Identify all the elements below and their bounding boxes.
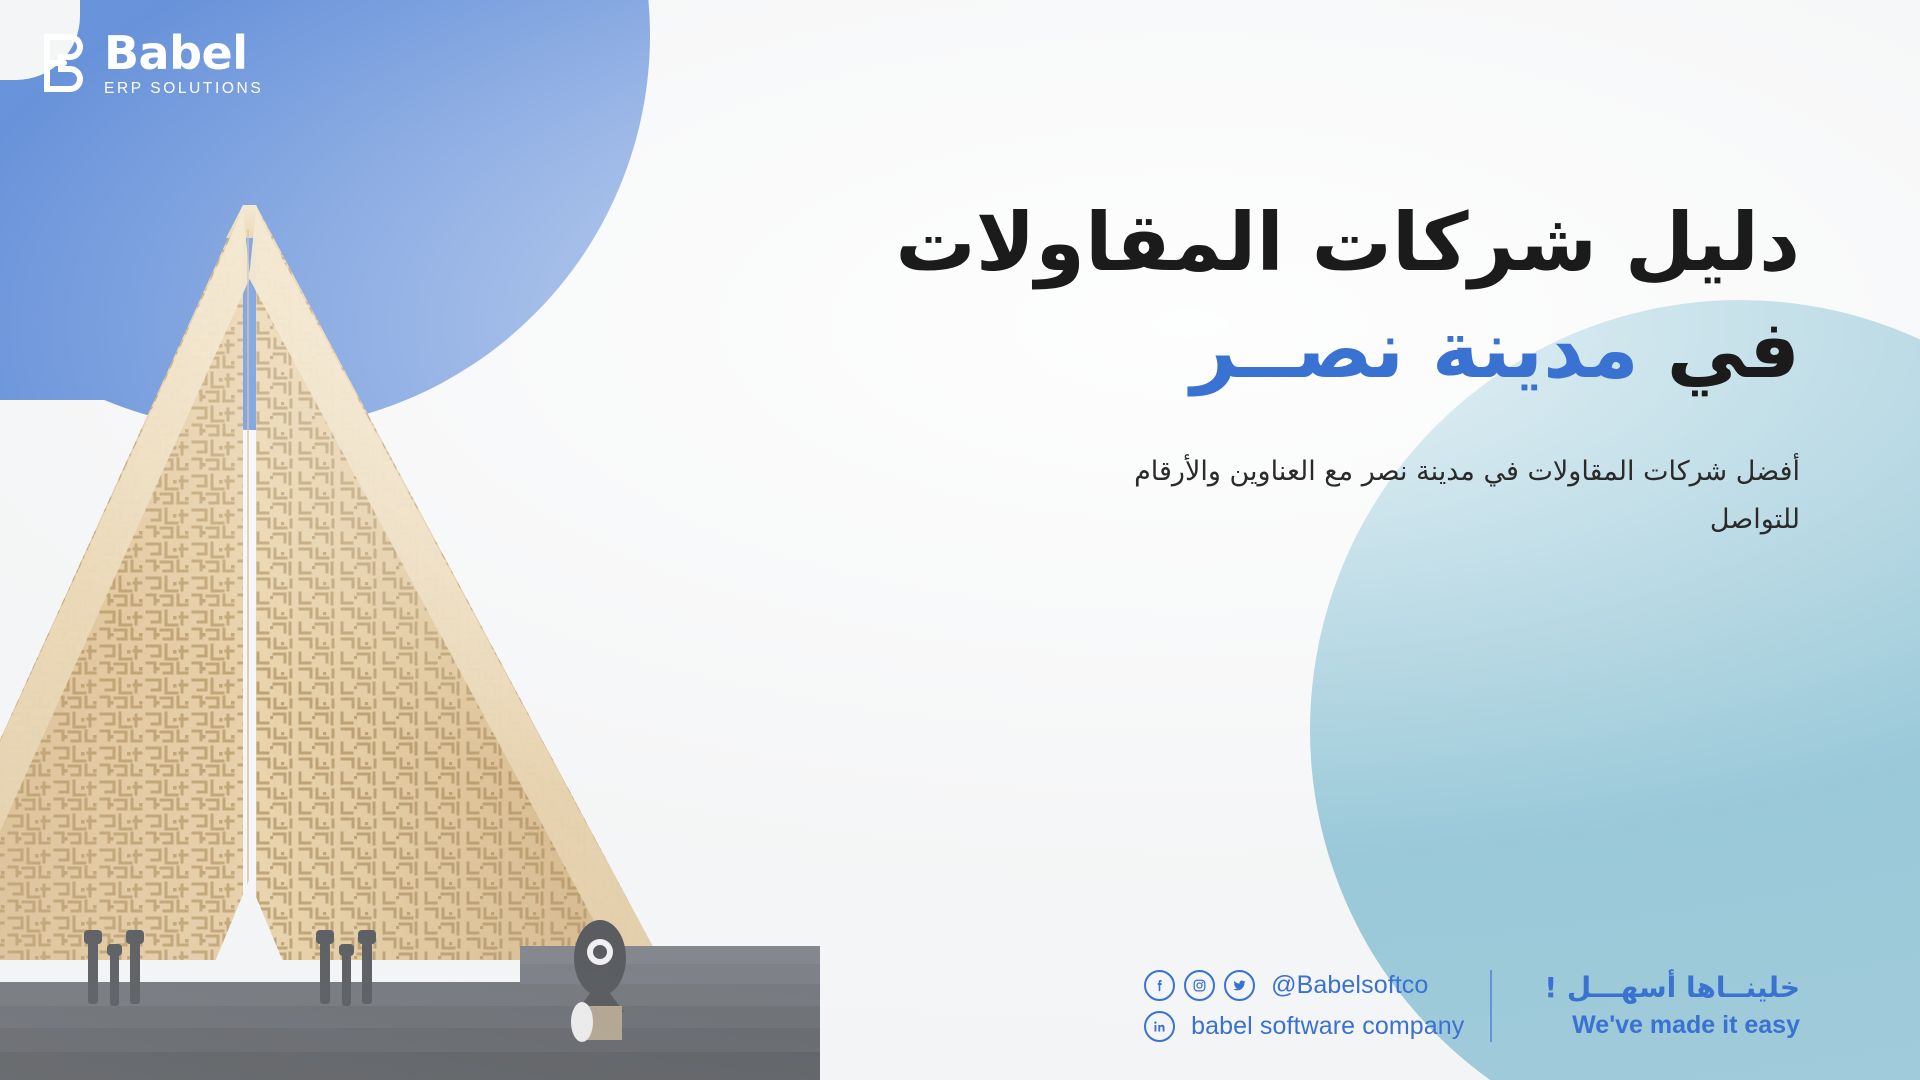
slogan-block: خلينــاها أسهـــل ! We've made it easy (1518, 970, 1800, 1042)
facebook-icon[interactable] (1144, 970, 1175, 1001)
headline-prefix: في (1667, 303, 1800, 396)
social-row-secondary: babel software company (1144, 1011, 1464, 1042)
footer-divider (1490, 970, 1492, 1042)
instagram-icon[interactable] (1184, 970, 1215, 1001)
poster-canvas: دليل شركات المقاولات في مدينة نصــر أفضل… (0, 0, 1920, 1080)
footer-bar: خلينــاها أسهـــل ! We've made it easy (1144, 970, 1800, 1042)
social-row-primary: @Babelsoftco (1144, 970, 1464, 1001)
social-links: @Babelsoftco babel software company (1144, 970, 1464, 1042)
twitter-icon[interactable] (1224, 970, 1255, 1001)
logo-tagline: ERP SOLUTIONS (104, 81, 263, 97)
unknown-soldier-memorial-illustration (0, 200, 820, 1080)
babel-b-mark-icon (40, 32, 90, 94)
headline-line-2: في مدينة نصــر (950, 296, 1800, 404)
social-handle-primary[interactable]: @Babelsoftco (1271, 971, 1428, 1000)
logo-name: Babel (104, 30, 263, 76)
social-handle-secondary[interactable]: babel software company (1191, 1012, 1464, 1041)
slogan-arabic: خلينــاها أسهـــل ! (1544, 970, 1800, 1005)
slogan-english: We've made it easy (1544, 1009, 1800, 1042)
headline-highlight: مدينة نصــر (1191, 303, 1639, 396)
logo-wordmark: Babel ERP SOLUTIONS (104, 30, 263, 97)
headline-line-1: دليل شركات المقاولات (950, 196, 1800, 290)
subtitle-text: أفضل شركات المقاولات في مدينة نصر مع الع… (1060, 448, 1800, 543)
brand-logo[interactable]: Babel ERP SOLUTIONS (40, 30, 263, 97)
linkedin-icon[interactable] (1144, 1011, 1175, 1042)
headline-block: دليل شركات المقاولات في مدينة نصــر أفضل… (950, 196, 1800, 543)
